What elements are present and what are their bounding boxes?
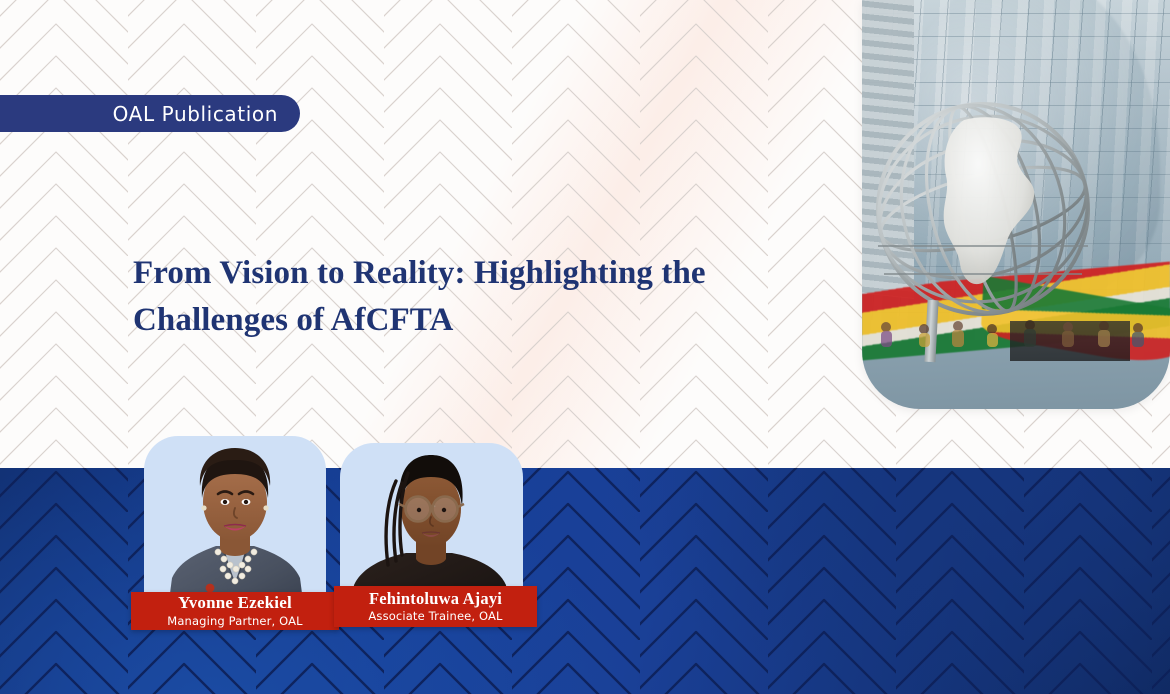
publication-badge: OAL Publication (0, 95, 300, 132)
globe-sculpture-icon (868, 96, 1098, 328)
page-title: From Vision to Reality: Highlighting the… (133, 250, 743, 344)
speaker-role: Associate Trainee, OAL (368, 609, 502, 623)
status-badge: Yvonne Ezekiel Managing Partner, OAL (131, 592, 339, 630)
crowd-silhouettes (872, 313, 1162, 347)
publication-badge-label: OAL Publication (113, 102, 278, 126)
publication-banner: OAL Publication From Vision to Reality: … (0, 0, 1170, 694)
status-badge: Fehintoluwa Ajayi Associate Trainee, OAL (334, 586, 537, 627)
speaker-role: Managing Partner, OAL (167, 614, 302, 628)
hero-image (862, 0, 1170, 409)
speaker-name: Fehintoluwa Ajayi (369, 590, 502, 607)
speaker-name: Yvonne Ezekiel (178, 594, 292, 612)
